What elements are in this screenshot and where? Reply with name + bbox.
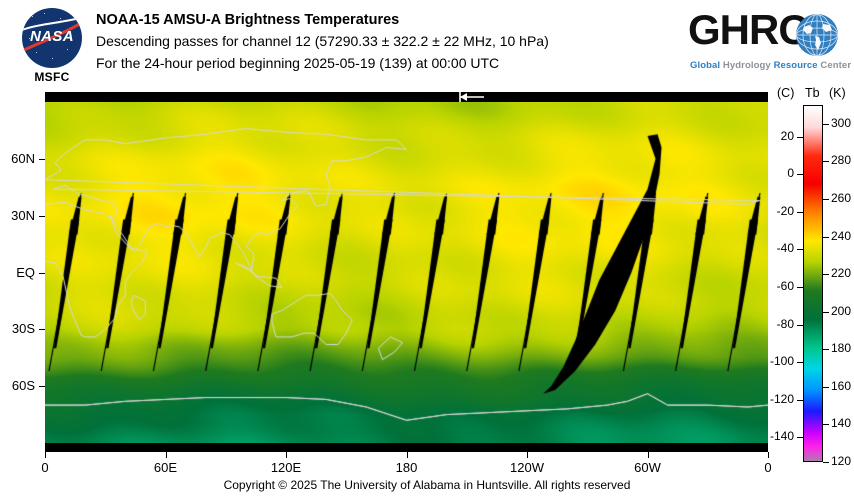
colorbar-tick-celsius — [797, 325, 803, 326]
colorbar-label-kelvin: 160 — [831, 379, 851, 393]
colorbar-tick-celsius — [797, 174, 803, 175]
ghrc-wordmark: GHRC — [688, 8, 808, 52]
x-axis-label: 60W — [618, 460, 678, 475]
x-axis-tick — [648, 452, 649, 458]
colorbar-label-celsius: -100 — [770, 354, 794, 368]
colorbar-tick-celsius — [797, 137, 803, 138]
colorbar-label-celsius: 0 — [787, 166, 794, 180]
ghrc-logo: GHRC Global Hydrology Resource Center — [688, 6, 848, 80]
colorbar-tick-celsius — [797, 362, 803, 363]
y-axis-tick — [39, 159, 45, 160]
ghrc-tagline-word-4: Center — [820, 60, 851, 71]
colorbar-tick-celsius — [797, 400, 803, 401]
x-axis-label: 180 — [377, 460, 437, 475]
colorbar-label-celsius: -80 — [777, 317, 794, 331]
colorbar-label-kelvin: 260 — [831, 191, 851, 205]
x-axis-tick — [768, 452, 769, 458]
colorbar-header-tb: Tb — [805, 86, 820, 100]
x-axis-label: 60E — [136, 460, 196, 475]
colorbar-label-kelvin: 120 — [831, 454, 851, 468]
colorbar-tick-kelvin — [823, 462, 829, 463]
y-axis-label: 30N — [0, 208, 35, 223]
x-axis-tick — [166, 452, 167, 458]
nasa-meatball-icon: NASA — [22, 8, 82, 68]
colorbar-gradient — [803, 105, 823, 462]
colorbar-label-kelvin: 280 — [831, 153, 851, 167]
x-axis-label: 0 — [738, 460, 798, 475]
page-title: NOAA-15 AMSU-A Brightness Temperatures — [96, 10, 549, 30]
colorbar-label-kelvin: 140 — [831, 416, 851, 430]
y-axis-label: EQ — [0, 265, 35, 280]
ghrc-tagline-word-2: Hydrology — [723, 60, 771, 71]
colorbar-label-celsius: -140 — [770, 429, 794, 443]
y-axis-tick — [39, 386, 45, 387]
y-axis-tick — [39, 216, 45, 217]
subtitle-channel: Descending passes for channel 12 (57290.… — [96, 30, 549, 52]
map-image — [45, 102, 768, 443]
colorbar-header-kelvin: (K) — [829, 86, 846, 100]
colorbar-tick-kelvin — [823, 274, 829, 275]
brightness-temperature-field — [45, 102, 768, 443]
colorbar-label-kelvin: 220 — [831, 266, 851, 280]
colorbar-tick-kelvin — [823, 199, 829, 200]
colorbar-tick-celsius — [797, 287, 803, 288]
colorbar-tick-kelvin — [823, 424, 829, 425]
nasa-logo: NASA MSFC — [13, 6, 91, 86]
colorbar — [803, 105, 823, 462]
x-axis-tick — [286, 452, 287, 458]
colorbar-tick-kelvin — [823, 349, 829, 350]
colorbar-tick-celsius — [797, 249, 803, 250]
x-axis-tick — [45, 452, 46, 458]
copyright-notice: Copyright © 2025 The University of Alaba… — [0, 478, 854, 492]
colorbar-tick-kelvin — [823, 161, 829, 162]
ghrc-tagline: Global Hydrology Resource Center — [690, 60, 851, 71]
colorbar-tick-kelvin — [823, 237, 829, 238]
colorbar-tick-kelvin — [823, 312, 829, 313]
colorbar-label-celsius: -20 — [777, 204, 794, 218]
colorbar-label-celsius: -120 — [770, 392, 794, 406]
x-axis-label: 120W — [497, 460, 557, 475]
x-axis-tick — [407, 452, 408, 458]
colorbar-label-celsius: -60 — [777, 279, 794, 293]
left-arrow-marker-icon — [457, 87, 487, 105]
ghrc-tagline-word-3: Resource — [774, 60, 818, 71]
colorbar-label-kelvin: 200 — [831, 304, 851, 318]
globe-icon — [796, 14, 838, 56]
y-axis-label: 60N — [0, 151, 35, 166]
colorbar-label-kelvin: 240 — [831, 229, 851, 243]
y-axis-label: 60S — [0, 378, 35, 393]
colorbar-tick-kelvin — [823, 124, 829, 125]
title-block: NOAA-15 AMSU-A Brightness Temperatures D… — [96, 10, 549, 74]
colorbar-label-celsius: -40 — [777, 241, 794, 255]
colorbar-tick-kelvin — [823, 387, 829, 388]
nasa-wordmark: NASA — [22, 28, 82, 45]
colorbar-tick-celsius — [797, 212, 803, 213]
subtitle-period: For the 24-hour period beginning 2025-05… — [96, 52, 549, 74]
y-axis-label: 30S — [0, 321, 35, 336]
y-axis-tick — [39, 329, 45, 330]
colorbar-header-celsius: (C) — [777, 86, 794, 100]
x-axis-label: 120E — [256, 460, 316, 475]
nasa-center-label: MSFC — [13, 70, 91, 84]
colorbar-label-celsius: 20 — [781, 129, 794, 143]
colorbar-tick-celsius — [797, 437, 803, 438]
colorbar-label-kelvin: 180 — [831, 341, 851, 355]
map-plot[interactable] — [45, 92, 768, 452]
x-axis-label: 0 — [15, 460, 75, 475]
ghrc-tagline-word-1: Global — [690, 60, 720, 71]
colorbar-label-kelvin: 300 — [831, 116, 851, 130]
y-axis-tick — [39, 273, 45, 274]
x-axis-tick — [527, 452, 528, 458]
